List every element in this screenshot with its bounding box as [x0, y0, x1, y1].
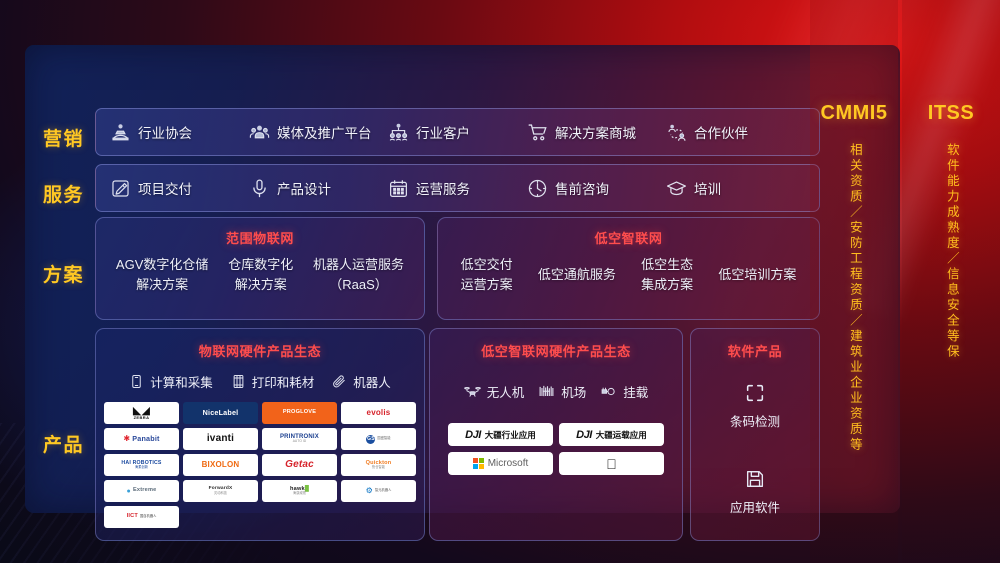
row-label-solution: 方案 — [43, 260, 84, 287]
partner-logo-sub: 智元机器人 — [375, 489, 391, 492]
solution-item[interactable]: 低空生态 集成方案 — [641, 255, 693, 294]
certification-band: CMMI5 相关资质／安防工程资质／建筑业企业资质等 ITSS 软件能力成熟度／… — [810, 0, 1000, 563]
certification-title: ITSS — [902, 102, 1000, 125]
marketing-item-label: 解决方案商城 — [555, 122, 636, 142]
lowalt-icon-row: 无人机 机场 挂载 — [430, 382, 682, 401]
paperclip-robot-icon — [332, 374, 347, 389]
partner-logo-cell-dji-industry[interactable]: DJI 大疆行业应用 — [448, 423, 553, 446]
certification-title: CMMI5 — [810, 102, 898, 125]
product-card-title: 物联网硬件产品生态 — [96, 341, 424, 360]
solution-card-low-altitude: 低空智联网 低空交付 运营方案 低空通航服务 低空生态 集成方案 低空培训方案 — [437, 217, 820, 320]
microsoft-logo-icon — [473, 458, 484, 469]
row-label-product: 产品 — [43, 430, 84, 457]
apple-logo-icon:  — [606, 457, 617, 471]
lowalt-category-payload[interactable]: 挂载 — [600, 382, 648, 401]
software-item-barcode-detection[interactable]: 条码检测 — [691, 382, 819, 430]
solution-card-title: 范围物联网 — [96, 228, 424, 247]
row-label-service: 服务 — [43, 180, 84, 207]
software-item-application-software[interactable]: 应用软件 — [691, 468, 819, 516]
partner-logo-cell-dji-delivery[interactable]: DJI 大疆运载应用 — [559, 423, 664, 446]
lowalt-category-airport[interactable]: 机场 — [538, 382, 586, 401]
solution-item[interactable]: 低空通航服务 — [538, 265, 616, 285]
service-item-label: 产品设计 — [277, 178, 331, 198]
service-item-label: 培训 — [694, 178, 721, 198]
partner-logo-cell[interactable]: ivanti — [183, 428, 258, 450]
airport-tower-icon — [538, 383, 555, 400]
iot-category-compute-capture[interactable]: 计算和采集 — [129, 372, 213, 391]
service-item-label: 运营服务 — [416, 178, 470, 198]
row-label-marketing: 营销 — [43, 124, 84, 151]
partner-logo-sub: AUTO ID — [293, 440, 307, 443]
printer-ribbon-icon — [231, 374, 246, 389]
partner-logo-label: 大疆运载应用 — [596, 429, 647, 441]
service-item-training[interactable]: 培训 — [666, 178, 805, 199]
mobile-device-icon — [129, 374, 144, 389]
marketing-item-industry-association[interactable]: 行业协会 — [110, 122, 249, 143]
service-item-product-design[interactable]: 产品设计 — [249, 178, 388, 199]
partner-logo-sub: 国盛智能 — [377, 437, 390, 440]
lowalt-category-label: 机场 — [561, 382, 586, 401]
pencil-square-icon — [110, 178, 131, 199]
solution-item[interactable]: 仓库数字化 解决方案 — [228, 255, 293, 294]
capability-map-panel: 营销 行业协会 媒体及推广平台 行业客户 解决方案商城 合作伙伴 — [25, 45, 900, 513]
partner-logo-name: IICT — [127, 514, 138, 520]
partner-logo-cell[interactable]: ●Extreme — [104, 480, 179, 502]
service-item-operation-service[interactable]: 运营服务 — [388, 178, 527, 199]
service-bar: 项目交付 产品设计 运营服务 售前咨询 培训 — [95, 164, 820, 212]
marketing-item-label: 合作伙伴 — [694, 122, 748, 142]
partner-logo-sub: 海康威视 — [293, 492, 306, 495]
marketing-item-label: 媒体及推广平台 — [277, 122, 372, 142]
solution-card-scope-iot: 范围物联网 AGV数字化仓储 解决方案 仓库数字化 解决方案 机器人运营服务 （… — [95, 217, 425, 320]
partner-logo-name: GS — [366, 435, 375, 444]
partner-logo-sub: 灵动科技 — [214, 492, 227, 495]
iot-category-print-consumables[interactable]: 打印和耗材 — [231, 372, 315, 391]
iot-category-label: 机器人 — [353, 372, 391, 391]
solution-card-title: 低空智联网 — [438, 228, 819, 247]
people-group-icon — [249, 122, 270, 143]
partner-logo-cell[interactable]: ⚙智元机器人 — [341, 480, 416, 502]
service-item-project-delivery[interactable]: 项目交付 — [110, 178, 249, 199]
partner-logo-cell[interactable]: NiceLabel — [183, 402, 258, 424]
certification-column-itss: ITSS 软件能力成熟度／信息安全等保 — [902, 0, 1000, 563]
certification-vertical-text-wrap: 软件能力成熟度／信息安全等保 — [902, 143, 1000, 360]
partner-logo-sub: 国自机器人 — [140, 515, 156, 518]
partner-logo-label: Microsoft — [488, 458, 529, 469]
solution-item[interactable]: 机器人运营服务 （RaaS） — [313, 255, 404, 294]
partner-logo-name: PROGLOVE — [283, 410, 316, 416]
certification-column-cmmi5: CMMI5 相关资质／安防工程资质／建筑业企业资质等 — [810, 0, 898, 563]
shopping-cart-icon — [527, 122, 548, 143]
microphone-icon — [249, 178, 270, 199]
partner-logo-name: evolis — [367, 409, 391, 417]
solution-item-list: 低空交付 运营方案 低空通航服务 低空生态 集成方案 低空培训方案 — [438, 255, 819, 294]
partner-logo-cell[interactable]: ForwardX 灵动科技 — [183, 480, 258, 502]
product-card-title: 低空智联网硬件产品生态 — [430, 341, 682, 360]
marketing-item-partners[interactable]: 合作伙伴 — [666, 122, 805, 143]
dji-logo: DJI — [465, 429, 481, 441]
marketing-bar: 行业协会 媒体及推广平台 行业客户 解决方案商城 合作伙伴 — [95, 108, 820, 156]
partner-logo-cell[interactable]: PRINTRONIX AUTO ID — [262, 428, 337, 450]
product-card-low-altitude-hardware: 低空智联网硬件产品生态 无人机 机场 挂载 DJI 大疆行业应用 DJI 大 — [429, 328, 683, 541]
iot-category-label: 打印和耗材 — [252, 372, 315, 391]
clock-icon — [527, 178, 548, 199]
floppy-disk-icon — [744, 468, 766, 490]
partner-logo-label: 大疆行业应用 — [485, 429, 536, 441]
software-item-label: 条码检测 — [691, 411, 819, 430]
partner-logo-cell-microsoft[interactable]: Microsoft — [448, 452, 553, 475]
partner-logo-sub: 海柔创新 — [135, 466, 148, 469]
partner-logo-cell[interactable]: ◣◢ ZEBRA — [104, 402, 179, 424]
service-item-label: 项目交付 — [138, 178, 192, 198]
partner-logo-cell-apple[interactable]:  — [559, 452, 664, 475]
marketing-item-label: 行业客户 — [416, 122, 470, 142]
partner-logo-name: Panabit — [132, 435, 159, 442]
partner-logo-name: Extreme — [133, 488, 156, 494]
product-card-software: 软件产品 条码检测 应用软件 — [690, 328, 820, 541]
iot-icon-row: 计算和采集 打印和耗材 机器人 — [96, 372, 424, 391]
software-item-label: 应用软件 — [691, 497, 819, 516]
solution-item[interactable]: 低空交付 运营方案 — [461, 255, 513, 294]
partner-logo-cell[interactable]: ✱Panabit — [104, 428, 179, 450]
drone-icon — [464, 383, 481, 400]
dji-logo: DJI — [576, 429, 592, 441]
partner-logo-cell[interactable]: evolis — [341, 402, 416, 424]
marketing-item-solution-mall[interactable]: 解决方案商城 — [527, 122, 666, 143]
lowalt-partner-logo-grid: DJI 大疆行业应用 DJI 大疆运载应用 Microsoft  — [430, 423, 682, 475]
partner-logo-cell[interactable]: hawk█ 海康威视 — [262, 480, 337, 502]
marketing-item-media-platform[interactable]: 媒体及推广平台 — [249, 122, 388, 143]
partner-logo-cell[interactable]: Quickton 快仓智能 — [341, 454, 416, 476]
solution-item[interactable]: AGV数字化仓储 解决方案 — [116, 255, 208, 294]
service-item-label: 售前咨询 — [555, 178, 609, 198]
calendar-icon — [388, 178, 409, 199]
partner-logo-cell[interactable]: BIXOLON — [183, 454, 258, 476]
solution-item[interactable]: 低空培训方案 — [718, 265, 796, 285]
service-item-presales-consulting[interactable]: 售前咨询 — [527, 178, 666, 199]
certification-vertical-text: 相关资质／安防工程资质／建筑业企业资质等 — [846, 143, 862, 453]
partner-logo-name: BIXOLON — [202, 461, 240, 469]
partner-logo-name: NiceLabel — [203, 409, 239, 416]
lowalt-category-drone[interactable]: 无人机 — [464, 382, 525, 401]
lowalt-category-label: 无人机 — [487, 382, 525, 401]
partner-logo-cell[interactable]: Getac — [262, 454, 337, 476]
partner-logo-cell[interactable]: GS国盛智能 — [341, 428, 416, 450]
certification-vertical-text: 软件能力成熟度／信息安全等保 — [943, 143, 959, 360]
podium-speaker-icon — [110, 122, 131, 143]
barcode-scan-frame-icon — [744, 382, 766, 404]
iot-category-robot[interactable]: 机器人 — [332, 372, 391, 391]
org-chart-users-icon — [388, 122, 409, 143]
partner-logo-name: Getac — [285, 460, 314, 470]
partner-logo-sub: 快仓智能 — [372, 466, 385, 469]
solution-item-list: AGV数字化仓储 解决方案 仓库数字化 解决方案 机器人运营服务 （RaaS） — [96, 255, 424, 294]
graduation-cap-icon — [666, 178, 687, 199]
partner-logo-cell[interactable]: HAI ROBOTICS 海柔创新 — [104, 454, 179, 476]
product-card-title: 软件产品 — [691, 341, 819, 360]
iot-category-label: 计算和采集 — [150, 372, 213, 391]
partner-logo-cell[interactable]: PROGLOVE — [262, 402, 337, 424]
lowalt-category-label: 挂载 — [623, 382, 648, 401]
certification-vertical-text-wrap: 相关资质／安防工程资质／建筑业企业资质等 — [810, 143, 898, 453]
product-card-iot-hardware: 物联网硬件产品生态 计算和采集 打印和耗材 机器人 ◣◢ ZEBRA — [95, 328, 425, 541]
partner-logo-cell[interactable]: IICT国自机器人 — [104, 506, 179, 528]
handshake-partners-icon — [666, 122, 687, 143]
marketing-item-label: 行业协会 — [138, 122, 192, 142]
partner-logo-name: ZEBRA — [134, 416, 150, 420]
marketing-item-industry-customers[interactable]: 行业客户 — [388, 122, 527, 143]
iot-partner-logo-grid: ◣◢ ZEBRA NiceLabel PROGLOVE evolis ✱Pana… — [96, 402, 424, 528]
partner-logo-name: ivanti — [207, 434, 234, 444]
payload-mount-icon — [600, 383, 617, 400]
